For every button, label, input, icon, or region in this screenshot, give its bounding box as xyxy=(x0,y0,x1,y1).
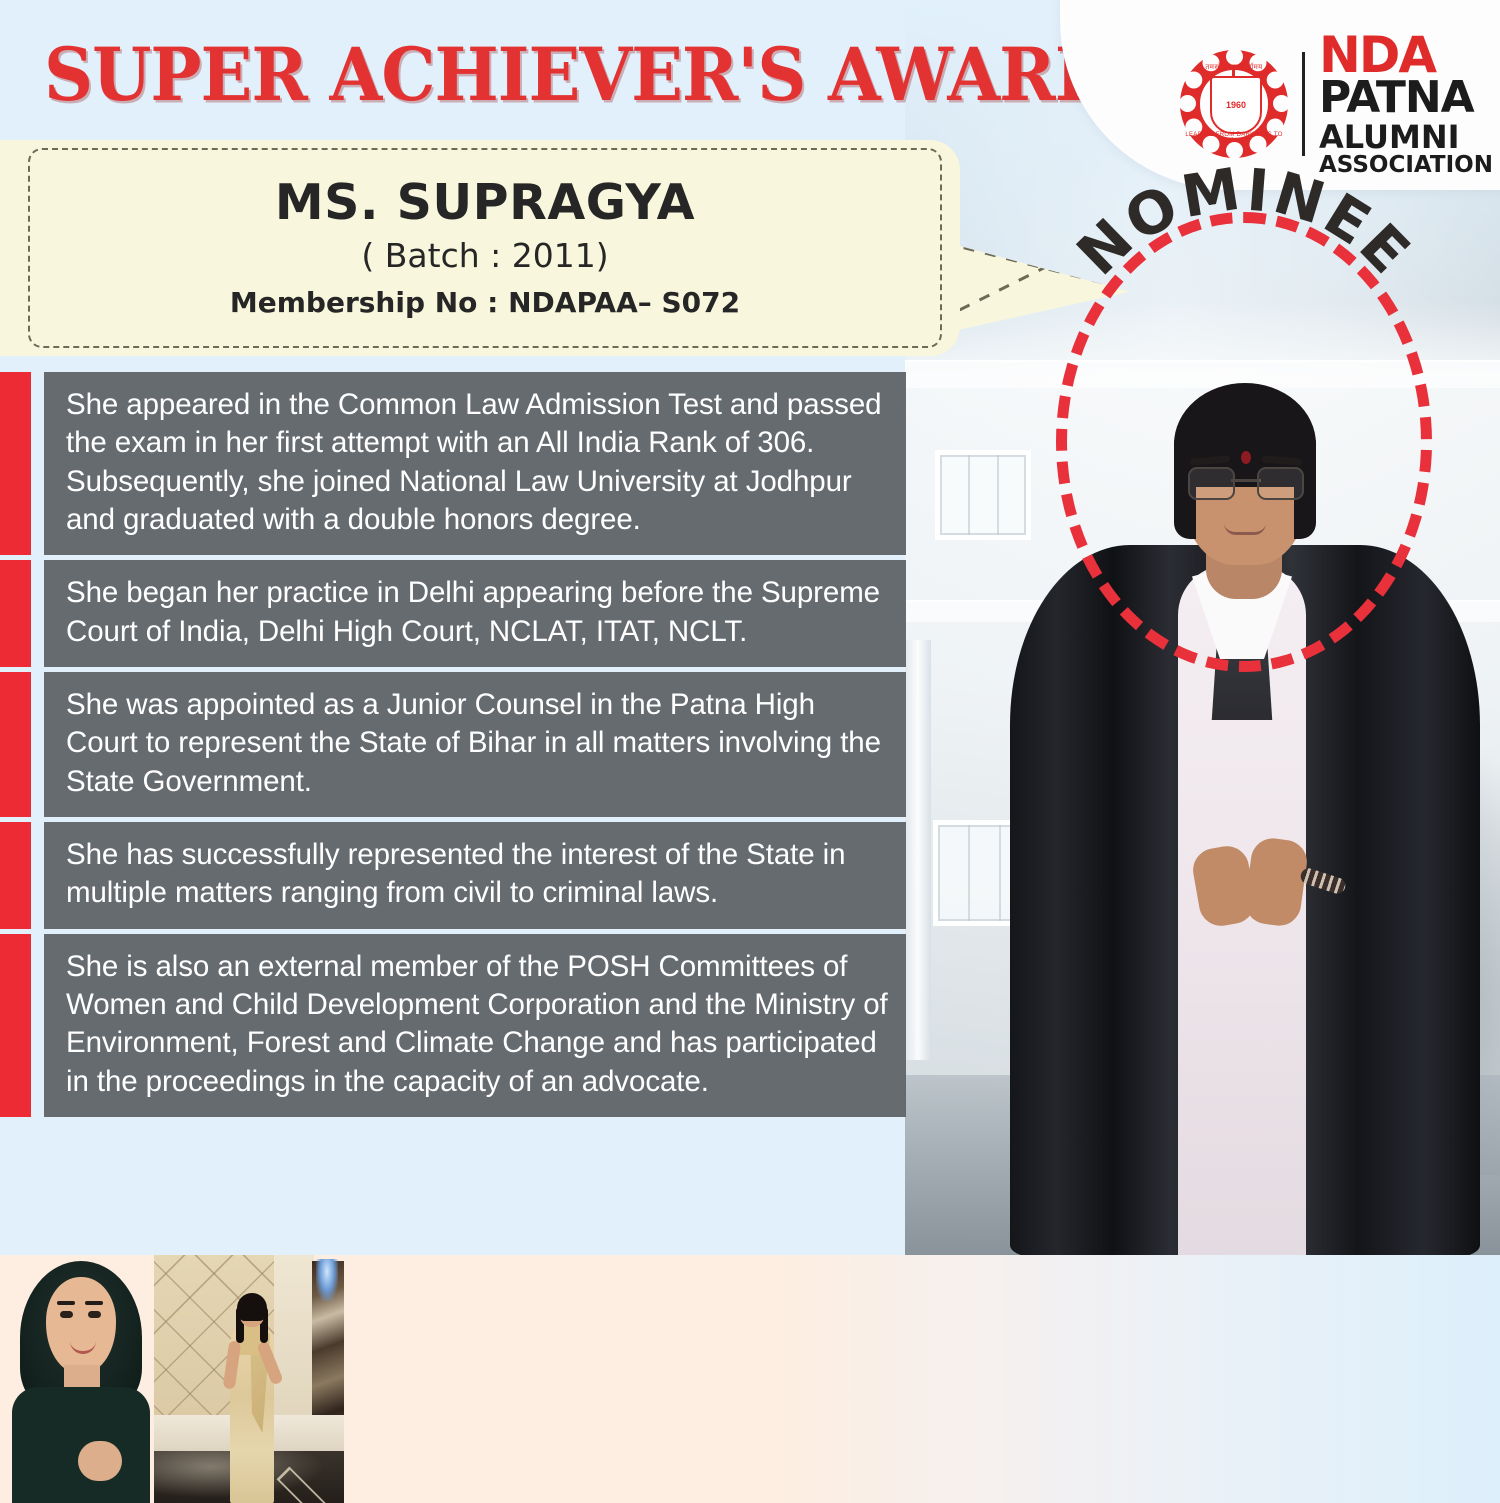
nominee-name: MS. SUPRAGYA xyxy=(275,177,695,228)
name-card-content: MS. SUPRAGYA ( Batch : 2011) Membership … xyxy=(28,148,942,348)
poster-root: SUPER ACHIEVER'S AWARD 2024 तमसो मा ज्यो xyxy=(0,0,1500,1503)
emblem-shield-year: 1960 xyxy=(1210,76,1262,134)
gallery-photo-1 xyxy=(12,1255,150,1503)
nominee-membership: Membership No : NDAPAA– S072 xyxy=(230,286,740,319)
lens-left xyxy=(1188,467,1235,500)
gear-notch xyxy=(1179,95,1196,112)
photo2-figure xyxy=(228,1297,274,1503)
photo2-light-glow xyxy=(316,1259,338,1301)
bar-gap xyxy=(31,372,44,555)
accent-bar xyxy=(0,560,31,667)
achievement-item: She began her practice in Delhi appearin… xyxy=(0,560,906,667)
logo-divider xyxy=(1302,52,1305,156)
nda-patna-gear-emblem-icon: तमसो मा ज्योतिर्गमय 1960 LEAD ME FROM DA… xyxy=(1180,50,1288,158)
bar-gap xyxy=(31,822,44,929)
gear-notch xyxy=(1226,142,1243,159)
achievement-item: She appeared in the Common Law Admission… xyxy=(0,372,906,555)
accent-bar xyxy=(0,372,31,555)
bar-gap xyxy=(31,934,44,1117)
accent-bar xyxy=(0,672,31,817)
lens-right xyxy=(1257,467,1304,500)
bar-gap xyxy=(31,672,44,817)
emblem-motto-text: LEAD ME FROM DARKNESS TO LIGHT xyxy=(1180,132,1288,144)
gear-notch xyxy=(1266,72,1283,89)
achievement-text: She is also an external member of the PO… xyxy=(44,934,906,1117)
logo-lockup: तमसो मा ज्योतिर्गमय 1960 LEAD ME FROM DA… xyxy=(1180,30,1493,177)
bar-gap xyxy=(31,560,44,667)
title-main-text: SUPER ACHIEVER'S AWARD xyxy=(44,39,1113,112)
photo1-face xyxy=(46,1277,116,1373)
achievement-text: She was appointed as a Junior Counsel in… xyxy=(44,672,906,817)
photo1-eyebrow-left xyxy=(57,1301,75,1305)
nominee-batch: ( Batch : 2011) xyxy=(361,236,608,275)
achievement-text: She appeared in the Common Law Admission… xyxy=(44,372,906,555)
eyeglasses xyxy=(1188,467,1304,497)
achievement-item: She has successfully represented the int… xyxy=(0,822,906,929)
gallery-strip xyxy=(0,1255,1500,1503)
nominee-name-card: MS. SUPRAGYA ( Batch : 2011) Membership … xyxy=(0,140,960,356)
facade-band xyxy=(905,360,1500,388)
logo-line-patna: PATNA xyxy=(1319,76,1493,120)
logo-line-alumni: ALUMNI xyxy=(1319,121,1493,153)
photo1-eye-right xyxy=(88,1311,101,1318)
accent-bar xyxy=(0,822,31,929)
achievement-list: She appeared in the Common Law Admission… xyxy=(0,372,906,1122)
logo-line-association: ASSOCIATION xyxy=(1319,154,1493,177)
logo-wordmark: NDA PATNA ALUMNI ASSOCIATION xyxy=(1319,30,1493,177)
mouth xyxy=(1224,523,1266,535)
gear-notch xyxy=(1273,95,1290,112)
gear-notch xyxy=(1185,72,1202,89)
photo2-hair xyxy=(237,1293,267,1321)
facade-pillar xyxy=(905,640,931,1060)
photo1-hand xyxy=(78,1441,122,1481)
accent-bar xyxy=(0,934,31,1117)
bindi xyxy=(1241,451,1251,464)
photo1-eye-left xyxy=(60,1311,73,1318)
gallery-photo-2 xyxy=(154,1255,344,1503)
photo1-eyebrow-right xyxy=(85,1301,103,1305)
achievement-text: She began her practice in Delhi appearin… xyxy=(44,560,906,667)
achievement-text: She has successfully represented the int… xyxy=(44,822,906,929)
achievement-item: She was appointed as a Junior Counsel in… xyxy=(0,672,906,817)
nominee-photo-figure xyxy=(1010,395,1480,1255)
achievement-item: She is also an external member of the PO… xyxy=(0,934,906,1117)
